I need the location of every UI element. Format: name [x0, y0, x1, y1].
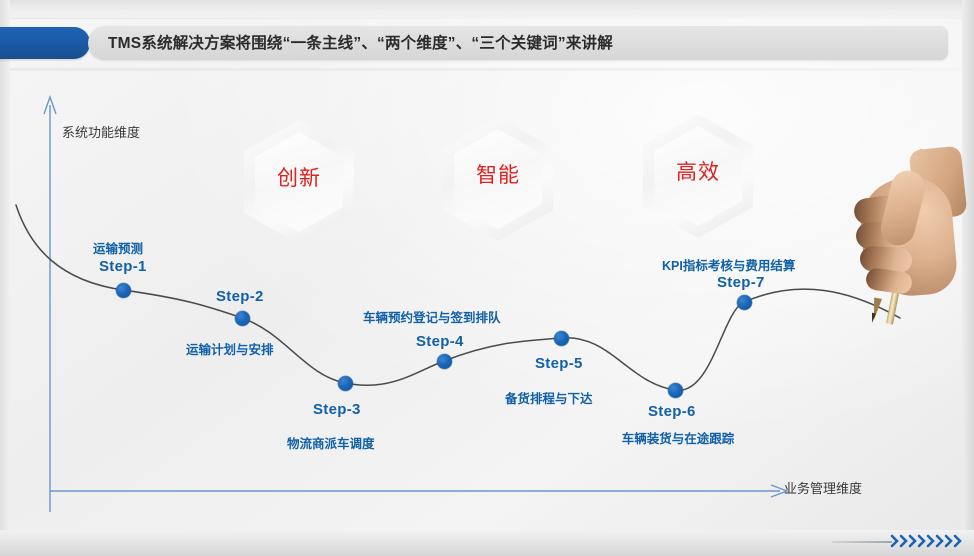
- hand-with-pencil-illustration: [846, 148, 958, 330]
- slide-canvas: TMS系统解决方案将围绕“一条主线”、“两个维度”、“三个关键词”来讲解 系统功…: [0, 0, 974, 556]
- chevron-lead-line: [832, 541, 892, 543]
- step-number-6: Step-6: [648, 403, 696, 420]
- step-number-4: Step-4: [416, 333, 464, 350]
- step-number-5: Step-5: [535, 355, 583, 372]
- step-dot-6[interactable]: [668, 383, 683, 398]
- step-desc-2: 运输计划与安排: [186, 339, 274, 358]
- step-desc-3: 物流商派车调度: [287, 433, 375, 452]
- step-desc-7: KPI指标考核与费用结算: [662, 255, 795, 274]
- step-dot-7[interactable]: [737, 295, 752, 310]
- step-desc-1: 运输预测: [93, 238, 143, 257]
- step-number-3: Step-3: [313, 401, 361, 418]
- chevron-arrows-decoration: [890, 532, 968, 550]
- step-dot-5[interactable]: [554, 331, 569, 346]
- step-number-1: Step-1: [99, 258, 147, 275]
- step-number-7: Step-7: [717, 274, 765, 291]
- step-desc-4: 车辆预约登记与签到排队: [363, 307, 501, 326]
- step-desc-6: 车辆装货与在途跟踪: [619, 431, 737, 448]
- process-curve: [0, 0, 974, 556]
- pencil-lead-icon: [870, 313, 876, 324]
- step-desc-5: 备货排程与下达: [505, 388, 593, 407]
- step-number-2: Step-2: [216, 288, 264, 305]
- step-dot-2[interactable]: [235, 311, 250, 326]
- step-dot-4[interactable]: [437, 354, 452, 369]
- step-dot-3[interactable]: [338, 376, 353, 391]
- step-dot-1[interactable]: [116, 283, 131, 298]
